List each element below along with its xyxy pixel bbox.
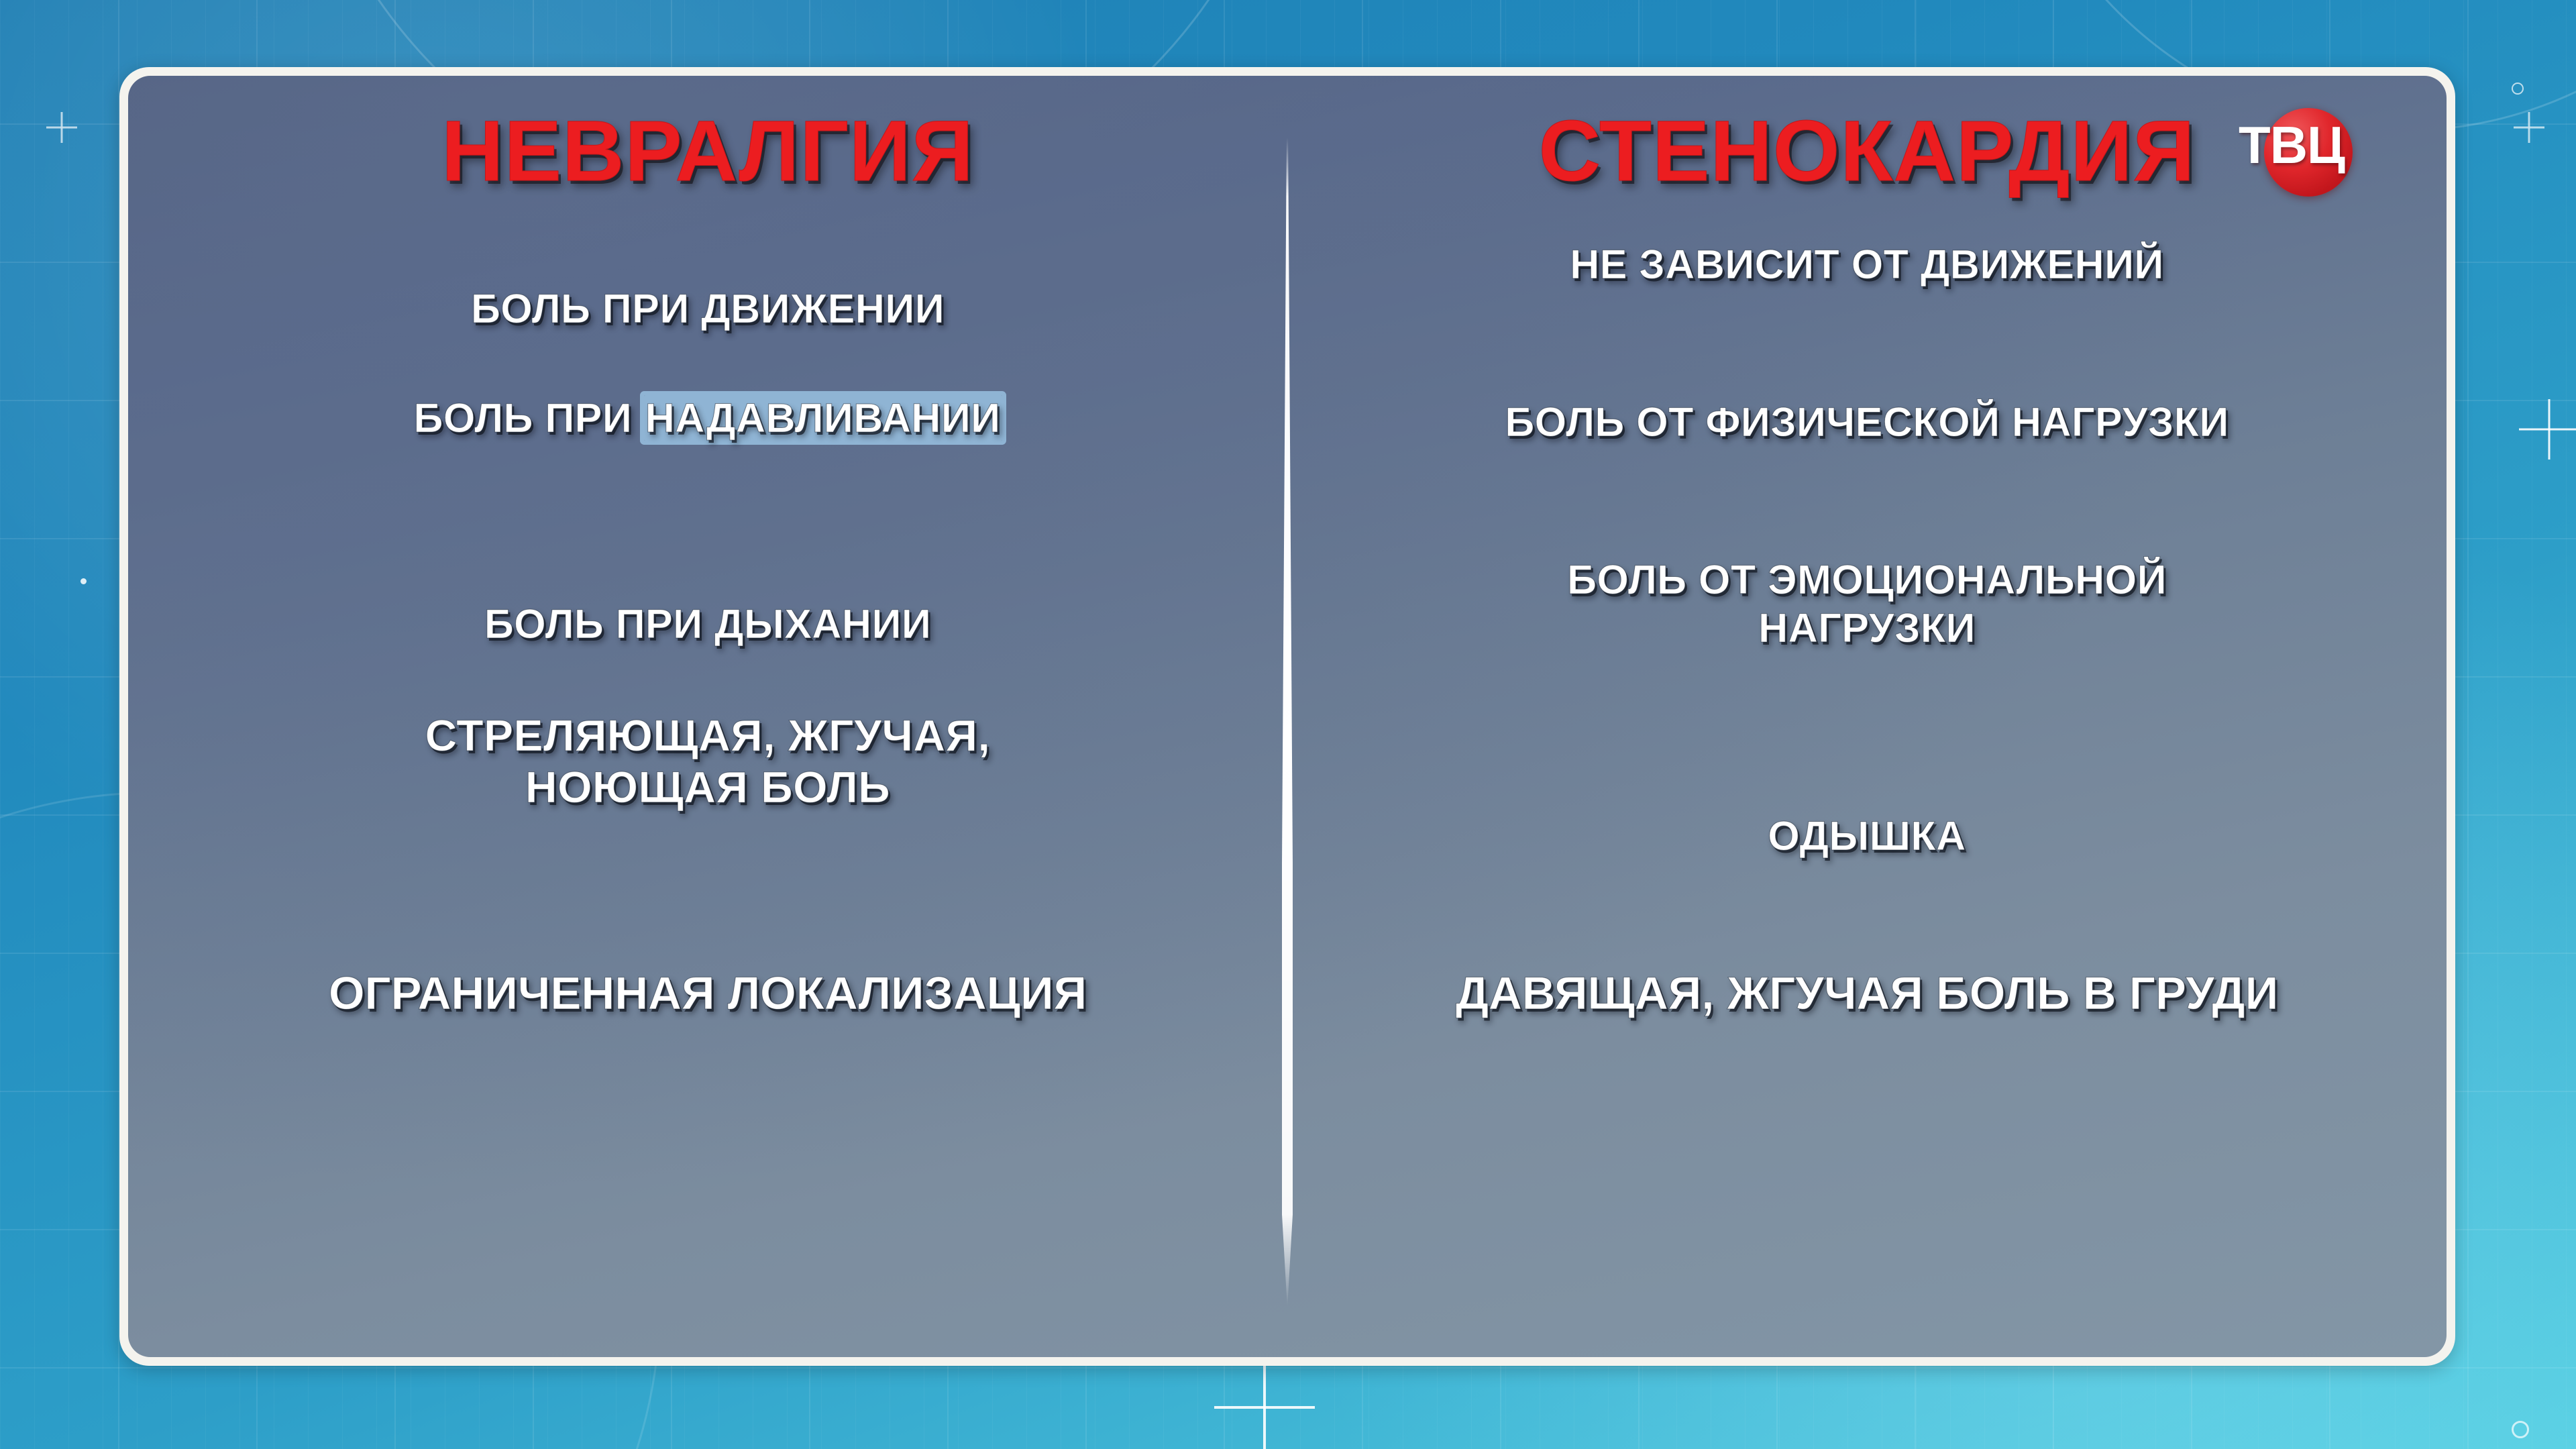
background-dot: [80, 578, 87, 584]
slide-canvas: НЕВРАЛГИЯ БОЛЬ ПРИ ДВИЖЕНИИ БОЛЬ ПРИ НАД…: [0, 0, 2576, 1449]
list-item-text: БОЛЬ ПРИ ДВИЖЕНИИ: [471, 237, 945, 333]
list-item: БОЛЬ ПРИ НАДАВЛИВАНИИ: [128, 394, 1287, 442]
tvc-logo-text: ТВЦ: [2239, 119, 2345, 171]
column-rows-angina: НЕ ЗАВИСИТ ОТ ДВИЖЕНИЙ БОЛЬ ОТ ФИЗИЧЕСКО…: [1287, 235, 2447, 1357]
background-sparkle: [46, 112, 77, 143]
list-item: СТРЕЛЯЮЩАЯ, ЖГУЧАЯ, НОЮЩАЯ БОЛЬ: [128, 710, 1287, 813]
background-sparkle: [1214, 1357, 1315, 1449]
list-item: БОЛЬ ОТ ЭМОЦИОНАЛЬНОЙ НАГРУЗКИ: [1287, 556, 2447, 652]
list-item-text: ОГРАНИЧЕННАЯ ЛОКАЛИЗАЦИЯ: [329, 967, 1087, 1021]
list-item: БОЛЬ ПРИ ДВИЖЕНИИ: [128, 237, 1287, 333]
list-item-text: НЕ ЗАВИСИТ ОТ ДВИЖЕНИЙ: [1570, 241, 2164, 288]
background-sparkle: [2514, 112, 2544, 143]
tvc-logo: ТВЦ: [2201, 107, 2355, 207]
list-item: БОЛЬ ОТ ФИЗИЧЕСКОЙ НАГРУЗКИ: [1287, 398, 2447, 446]
column-title-angina: СТЕНОКАРДИЯ: [1539, 105, 2196, 198]
comparison-columns: НЕВРАЛГИЯ БОЛЬ ПРИ ДВИЖЕНИИ БОЛЬ ПРИ НАД…: [128, 76, 2447, 1357]
column-angina: СТЕНОКАРДИЯ НЕ ЗАВИСИТ ОТ ДВИЖЕНИЙ БОЛЬ …: [1287, 76, 2447, 1357]
list-item: ОГРАНИЧЕННАЯ ЛОКАЛИЗАЦИЯ: [128, 967, 1287, 1021]
list-item-text: БОЛЬ ОТ ФИЗИЧЕСКОЙ НАГРУЗКИ: [1505, 398, 2229, 446]
background-sparkle: [2519, 399, 2576, 460]
column-title-neuralgia: НЕВРАЛГИЯ: [441, 105, 974, 198]
list-item-text: БОЛЬ ПРИ ДЫХАНИИ: [484, 552, 931, 648]
list-item-text: БОЛЬ ОТ ЭМОЦИОНАЛЬНОЙ НАГРУЗКИ: [1567, 556, 2167, 652]
list-item-text: СТРЕЛЯЮЩАЯ, ЖГУЧАЯ, НОЮЩАЯ БОЛЬ: [425, 710, 991, 813]
comparison-panel-inner: НЕВРАЛГИЯ БОЛЬ ПРИ ДВИЖЕНИИ БОЛЬ ПРИ НАД…: [128, 76, 2447, 1357]
list-item-text: БОЛЬ ПРИ НАДАВЛИВАНИИ: [413, 394, 1002, 442]
background-ring: [2512, 83, 2524, 95]
comparison-panel: НЕВРАЛГИЯ БОЛЬ ПРИ ДВИЖЕНИИ БОЛЬ ПРИ НАД…: [119, 67, 2455, 1366]
list-item: НЕ ЗАВИСИТ ОТ ДВИЖЕНИЙ: [1287, 241, 2447, 288]
list-item-text: ДАВЯЩАЯ, ЖГУЧАЯ БОЛЬ В ГРУДИ: [1456, 967, 2278, 1021]
column-neuralgia: НЕВРАЛГИЯ БОЛЬ ПРИ ДВИЖЕНИИ БОЛЬ ПРИ НАД…: [128, 76, 1287, 1357]
list-item-text: ОДЫШКА: [1768, 812, 1966, 860]
list-item: БОЛЬ ПРИ ДЫХАНИИ: [128, 552, 1287, 648]
background-ring: [2512, 1421, 2529, 1438]
column-rows-neuralgia: БОЛЬ ПРИ ДВИЖЕНИИ БОЛЬ ПРИ НАДАВЛИВАНИИ …: [128, 235, 1287, 1357]
highlighted-term: НАДАВЛИВАНИИ: [644, 395, 1002, 441]
list-item: ОДЫШКА: [1287, 812, 2447, 860]
list-item: ДАВЯЩАЯ, ЖГУЧАЯ БОЛЬ В ГРУДИ: [1287, 967, 2447, 1021]
